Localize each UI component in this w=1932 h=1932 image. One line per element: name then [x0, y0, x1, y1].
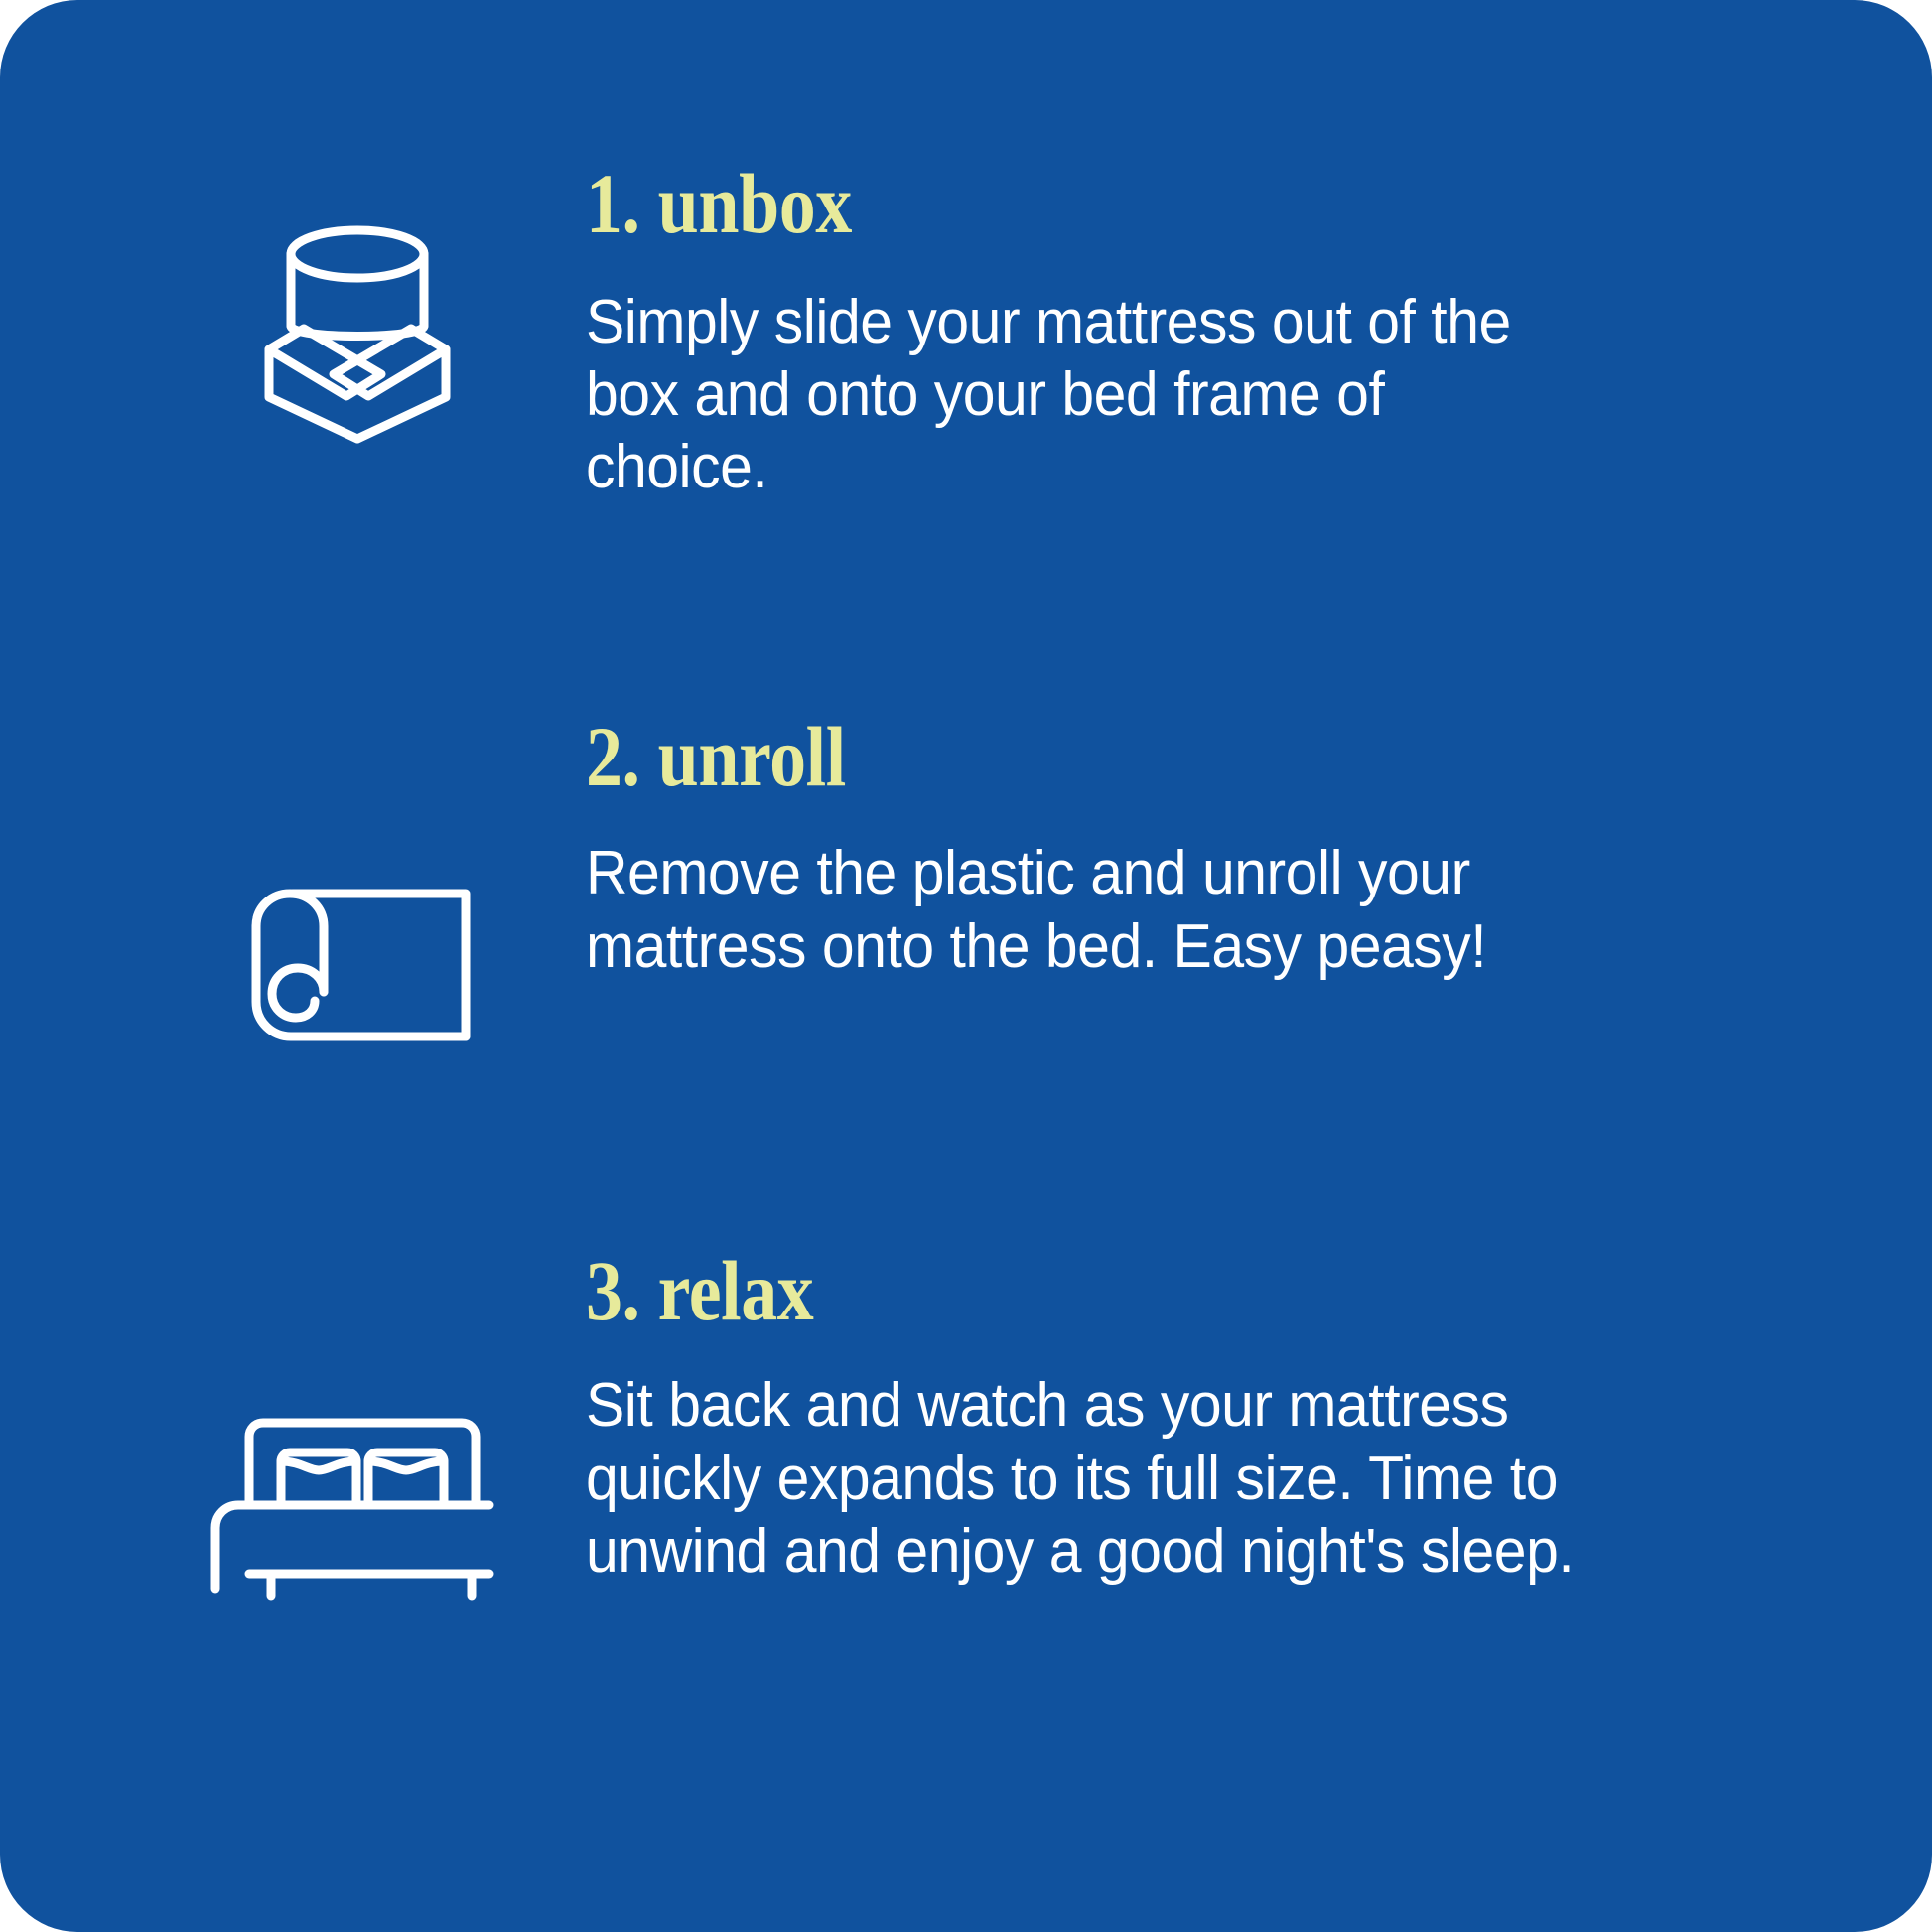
step-icon-container	[119, 161, 586, 449]
step-description: Remove the plastic and unroll your mattr…	[586, 837, 1577, 982]
step-description: Simply slide your mattress out of the bo…	[586, 286, 1577, 503]
step-item-unroll: 2. unroll Remove the plastic and unroll …	[119, 714, 1813, 1049]
step-text-container: 1. unbox Simply slide your mattress out …	[586, 161, 1688, 503]
step-text-container: 2. unroll Remove the plastic and unroll …	[586, 714, 1688, 982]
rolled-mattress-icon	[227, 881, 478, 1049]
step-item-unbox: 1. unbox Simply slide your mattress out …	[119, 161, 1813, 503]
how-it-works-card: 1. unbox Simply slide your mattress out …	[0, 0, 1932, 1932]
mattress-in-open-box-icon	[243, 201, 472, 449]
step-item-relax: 3. relax Sit back and watch as your matt…	[119, 1248, 1813, 1605]
step-description: Sit back and watch as your mattress quic…	[586, 1369, 1577, 1587]
step-icon-container	[119, 714, 586, 1049]
step-text-container: 3. relax Sit back and watch as your matt…	[586, 1248, 1688, 1587]
bed-with-pillows-icon	[206, 1407, 499, 1605]
step-icon-container	[119, 1248, 586, 1605]
step-heading: 3. relax	[586, 1248, 1482, 1333]
step-heading: 2. unroll	[586, 714, 1482, 799]
steps-list: 1. unbox Simply slide your mattress out …	[0, 0, 1932, 1932]
step-heading: 1. unbox	[586, 161, 1482, 246]
